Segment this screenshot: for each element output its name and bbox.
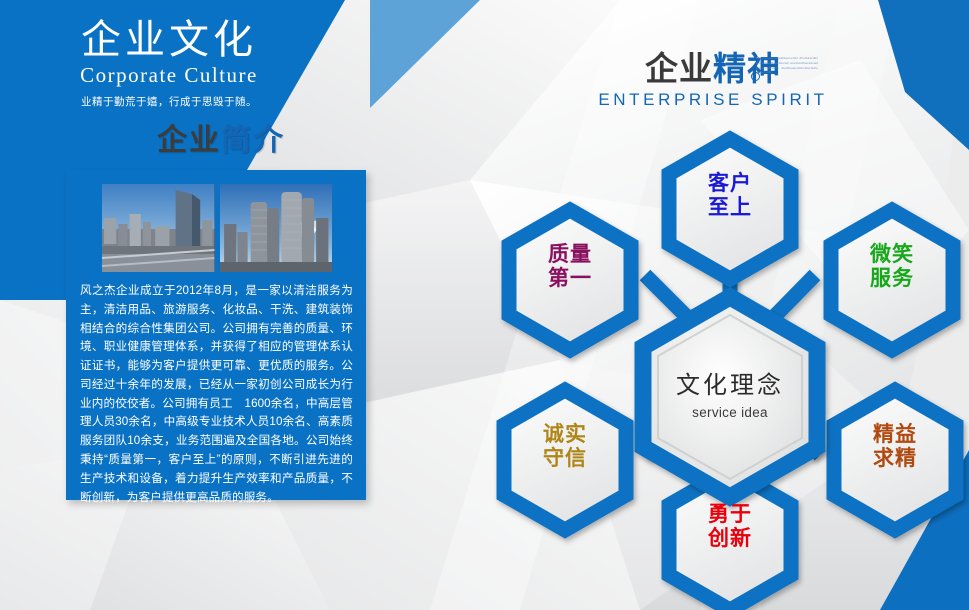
poster-canvas: 企业文化 Corporate Culture 业精于勤荒于嬉，行成于思毁于随。 … — [0, 0, 969, 610]
company-intro-body: 风之杰企业成立于2012年8月，是一家以清洁服务为主，清洁用品、旅游服务、化妆品… — [80, 282, 353, 507]
corporate-culture-motto: 业精于勤荒于嬉，行成于思毁于随。 — [34, 94, 304, 109]
culture-hexagon-diagram: 客户 至上 微笑 服务 精益 求精 勇于 创新 诚实 守信 质量 第一 文化理念… — [480, 125, 969, 610]
company-intro-heading-blue: 简介 — [221, 124, 285, 157]
hex-center-title: 文化理念 — [643, 365, 817, 400]
intro-photo-gallery — [102, 184, 332, 272]
city-skyline-photo-2 — [220, 184, 333, 272]
company-intro-heading-dark: 企业 — [157, 124, 221, 157]
enterprise-spirit-title-dark: 企业 — [645, 50, 713, 87]
corporate-culture-title-cn: 企业文化 — [34, 18, 304, 62]
enterprise-spirit-title-en: ENTERPRISE SPIRIT — [598, 90, 828, 110]
company-intro-heading: 企业简介 — [157, 115, 285, 159]
spirit-decorative-filler-text: dfsdkjcvnwekfdjskfdwcnvcfkl dfsdfuiwrtkf… — [756, 56, 818, 75]
corporate-culture-title-en: Corporate Culture — [34, 63, 304, 88]
hex-center-subtitle: service idea — [643, 405, 817, 420]
company-intro-card: 风之杰企业成立于2012年8月，是一家以清洁服务为主，清洁用品、旅游服务、化妆品… — [66, 170, 366, 500]
spirit-decor-circle-icon — [751, 72, 760, 81]
corporate-culture-text: 企业文化 Corporate Culture 业精于勤荒于嬉，行成于思毁于随。 — [34, 18, 304, 109]
city-skyline-photo-1 — [102, 184, 215, 272]
